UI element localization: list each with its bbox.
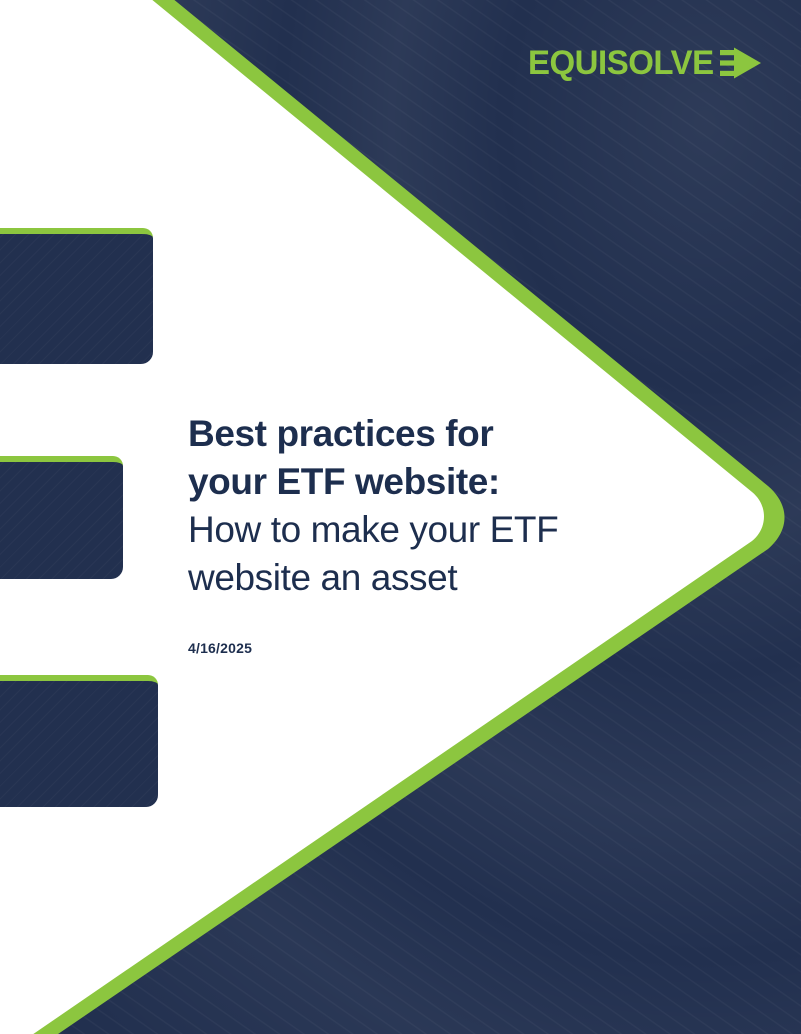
cover-page: EQUISOLVE Best practices for your ETF we…	[0, 0, 801, 1034]
page-title: Best practices for your ETF website: How…	[188, 410, 678, 602]
arrow-right-icon	[720, 46, 762, 80]
title-line-2: your ETF website:	[188, 458, 678, 506]
title-line-4: website an asset	[188, 554, 678, 602]
equisolve-logo[interactable]: EQUISOLVE	[528, 44, 762, 82]
title-line-3: How to make your ETF	[188, 506, 678, 554]
document-date: 4/16/2025	[188, 640, 252, 656]
decorative-square-3	[0, 675, 158, 807]
equisolve-wordmark: EQUISOLVE	[528, 46, 714, 80]
decorative-square-2	[0, 456, 123, 579]
decorative-square-1	[0, 228, 153, 364]
title-line-1: Best practices for	[188, 410, 678, 458]
